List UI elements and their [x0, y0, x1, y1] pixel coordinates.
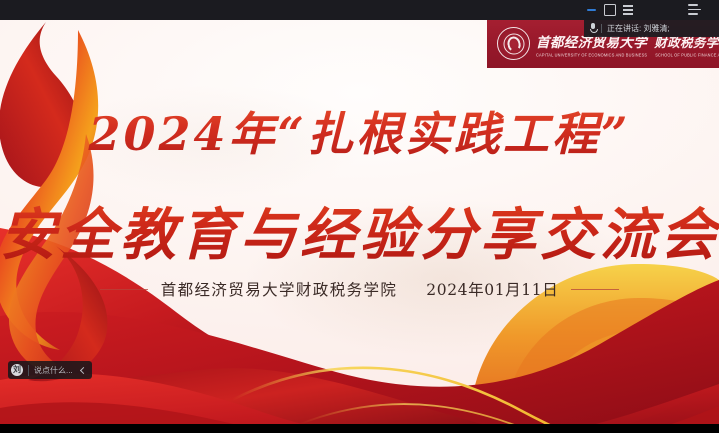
chat-input[interactable]: 说点什么...	[34, 365, 73, 376]
minimize-icon[interactable]	[586, 5, 597, 16]
avatar-initial: 刘	[13, 366, 21, 374]
slide-title-line-1: 2024年“扎根实践工程”	[0, 98, 719, 164]
university-name-en: CAPITAL UNIVERSITY OF ECONOMICS AND BUSI…	[536, 52, 647, 58]
subtitle-rule-left	[100, 289, 148, 290]
window-controls	[586, 4, 633, 16]
slide-title-line-2: 安全教育与经验分享交流会	[0, 190, 719, 271]
university-emblem-icon	[497, 27, 530, 60]
maximize-icon[interactable]	[604, 4, 616, 16]
presentation-slide: 2024年“扎根实践工程” 安全教育与经验分享交流会 首都经济贸易大学财政税务学…	[0, 20, 719, 424]
chat-divider	[28, 365, 29, 376]
slide-organization: 首都经济贸易大学财政税务学院	[161, 278, 398, 300]
school-name-en: SCHOOL OF PUBLIC FINANCE AND TAXATION	[655, 52, 719, 58]
screen-share-window: 2024年“扎根实践工程” 安全教育与经验分享交流会 首都经济贸易大学财政税务学…	[0, 0, 719, 433]
letterbox-bottom	[0, 424, 719, 433]
chevron-left-icon[interactable]	[77, 361, 90, 379]
subtitle-rule-right	[571, 289, 619, 290]
slide-date: 2024年01月11日	[426, 278, 558, 300]
slide-subtitle-row: 首都经济贸易大学财政税务学院 2024年01月11日	[0, 278, 719, 300]
collapse-panel-icon[interactable]	[688, 4, 701, 15]
chat-input-pill[interactable]: 刘 说点什么...	[8, 361, 92, 379]
active-speaker-label: 正在讲话: 刘雅清;	[607, 23, 670, 34]
speaker-divider	[601, 24, 602, 33]
brand-english-row: CAPITAL UNIVERSITY OF ECONOMICS AND BUSI…	[536, 52, 719, 57]
participants-list-icon[interactable]	[623, 5, 633, 15]
avatar: 刘	[11, 364, 23, 376]
active-speaker-indicator: 正在讲话: 刘雅清;	[584, 20, 719, 37]
microphone-icon	[590, 23, 596, 34]
